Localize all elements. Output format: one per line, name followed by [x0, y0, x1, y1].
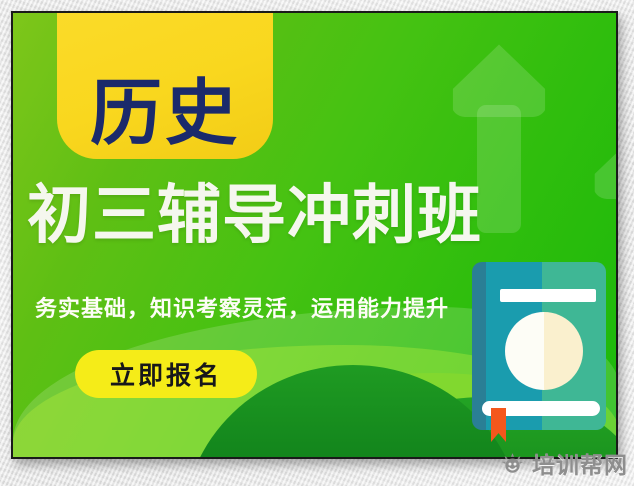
watermark: 培训帮网: [500, 446, 628, 480]
watermark-text: 培训帮网: [532, 446, 628, 480]
page-canvas: 历史 初三辅导冲刺班 务实基础，知识考察灵活，运用能力提升 立即报名: [0, 0, 634, 486]
enroll-now-button[interactable]: 立即报名: [75, 350, 257, 398]
banner-subtitle: 务实基础，知识考察灵活，运用能力提升: [35, 291, 449, 323]
book-emblem-circle: [505, 312, 583, 390]
up-arrow-shaft: [616, 189, 618, 299]
subject-badge: 历史: [57, 11, 273, 159]
book-icon: [472, 262, 606, 430]
book-title-bar: [500, 289, 596, 302]
course-promo-banner[interactable]: 历史 初三辅导冲刺班 务实基础，知识考察灵活，运用能力提升 立即报名: [11, 11, 618, 459]
subject-badge-label: 历史: [90, 77, 240, 149]
sun-face-icon: [500, 451, 525, 476]
banner-headline: 初三辅导冲刺班: [27, 183, 607, 250]
